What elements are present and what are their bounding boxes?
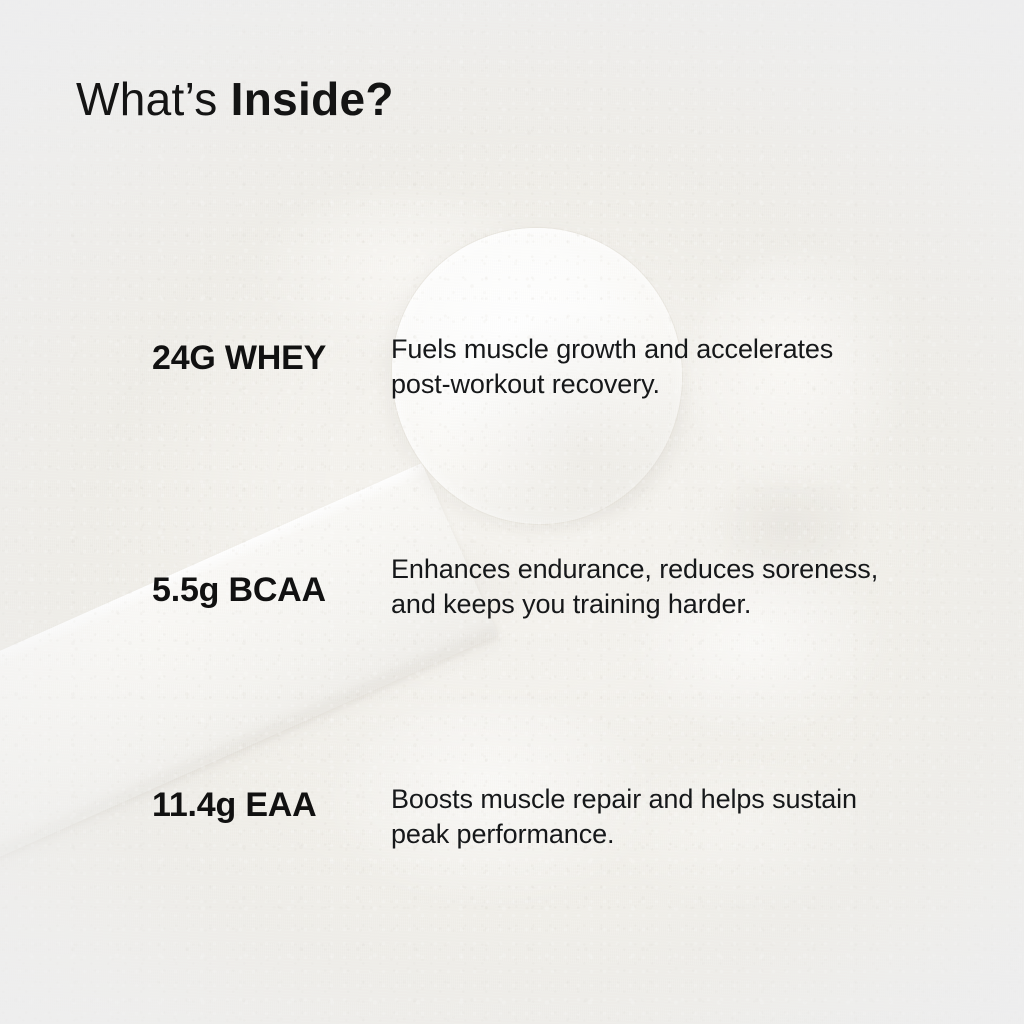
ingredient-amount: 11.4g EAA <box>152 785 374 825</box>
ingredient-description: Enhances endurance, reduces soreness, an… <box>391 552 891 622</box>
whats-inside-infographic: What’s Inside? 24G WHEY Fuels muscle gro… <box>0 0 1024 1024</box>
ingredient-amount: 5.5g BCAA <box>152 570 374 610</box>
ingredient-list: 24G WHEY Fuels muscle growth and acceler… <box>0 0 1024 1024</box>
ingredient-amount: 24G WHEY <box>152 338 374 378</box>
ingredient-description: Boosts muscle repair and helps sustain p… <box>391 782 891 852</box>
ingredient-description: Fuels muscle growth and accelerates post… <box>391 332 891 402</box>
